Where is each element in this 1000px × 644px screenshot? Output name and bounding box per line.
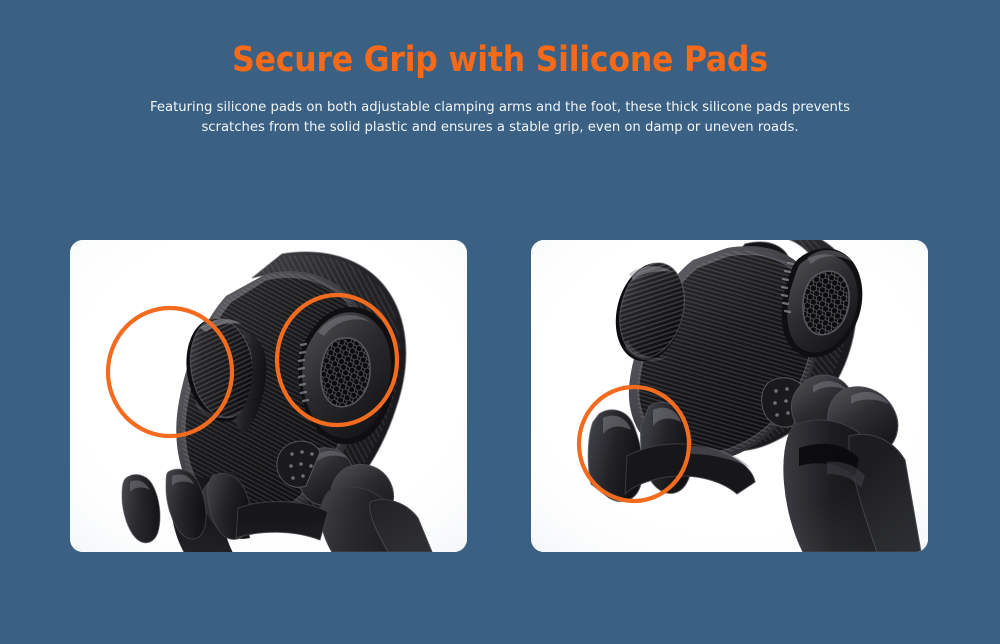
description-line-2: scratches from the solid plastic and ens… (135, 118, 865, 138)
description-line-1: Featuring silicone pads on both adjustab… (135, 98, 865, 118)
bottom-foot-hooks (122, 469, 250, 543)
product-photo-clamping-arms (70, 240, 467, 552)
product-feature-banner: Secure Grip with Silicone Pads Featuring… (0, 0, 1000, 644)
product-photo-card-right (531, 240, 928, 552)
page-title: Secure Grip with Silicone Pads (0, 0, 1000, 81)
product-photo-foot-pad (531, 240, 928, 552)
description-text: Featuring silicone pads on both adjustab… (135, 81, 865, 138)
header-block: Secure Grip with Silicone Pads Featuring… (0, 0, 1000, 138)
product-photo-card-left (70, 240, 467, 552)
